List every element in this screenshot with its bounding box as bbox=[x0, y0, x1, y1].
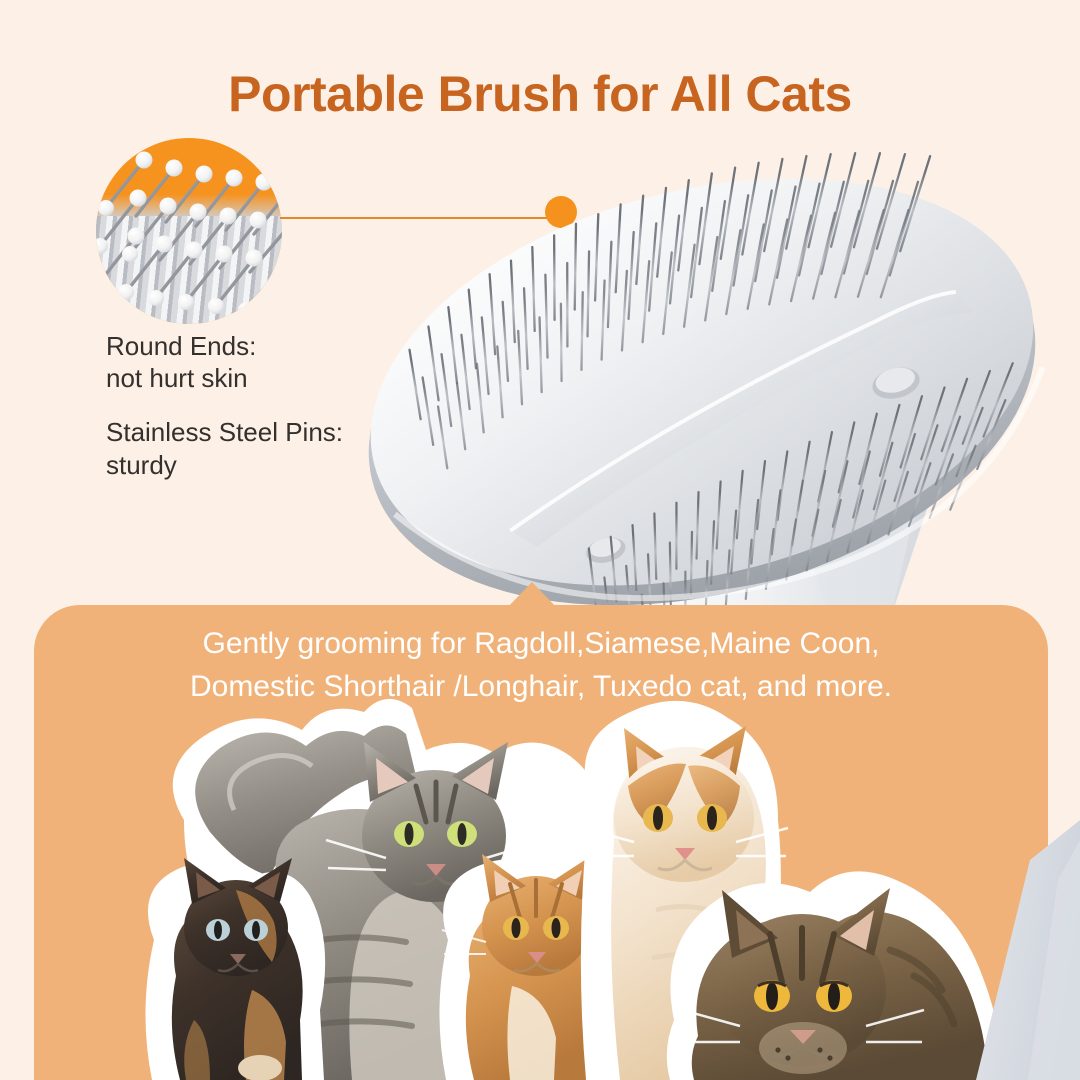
cat-grooming-brush-image bbox=[330, 150, 1080, 620]
brown-tabby-maine-coon bbox=[667, 871, 1002, 1080]
tortoiseshell-kitten bbox=[145, 858, 325, 1080]
product-infographic: Portable Brush for All Cats bbox=[0, 0, 1080, 1080]
cat-breeds-panel: Gently grooming for Ragdoll,Siamese,Main… bbox=[34, 605, 1048, 1080]
pin-closeup-magnifier bbox=[96, 138, 282, 324]
page-title: Portable Brush for All Cats bbox=[0, 68, 1080, 121]
magnified-pins-illustration bbox=[96, 138, 282, 324]
panel-description-line-1: Gently grooming for Ragdoll,Siamese,Main… bbox=[74, 623, 1008, 666]
cat-photo-group bbox=[34, 690, 1048, 1080]
